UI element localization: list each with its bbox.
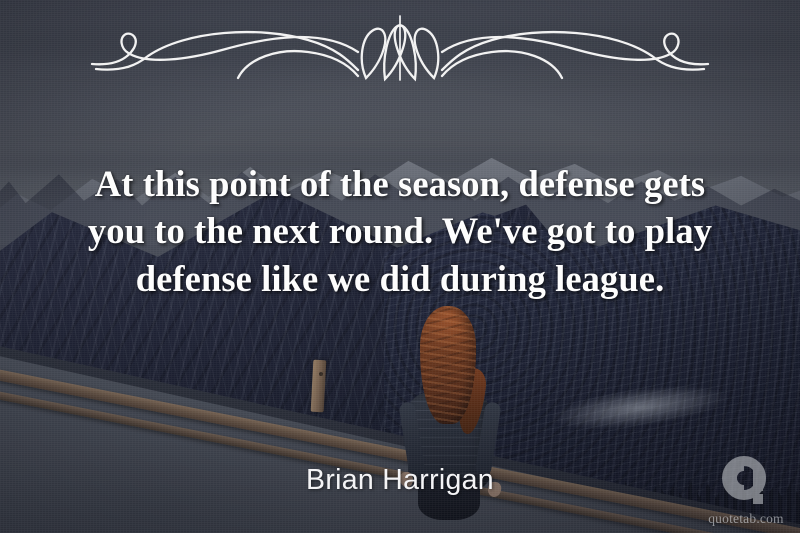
watermark[interactable]: quotetab.com [700,455,792,527]
quote-image-card: At this point of the season, defense get… [0,0,800,533]
calligraphic-flourish-divider [90,8,710,86]
quotetab-q-logo [700,455,792,513]
watermark-text: quotetab.com [700,511,792,527]
quote-author: Brian Harrigan [0,464,800,497]
quote-block: At this point of the season, defense get… [66,160,734,302]
quote-text: At this point of the season, defense get… [66,160,734,302]
